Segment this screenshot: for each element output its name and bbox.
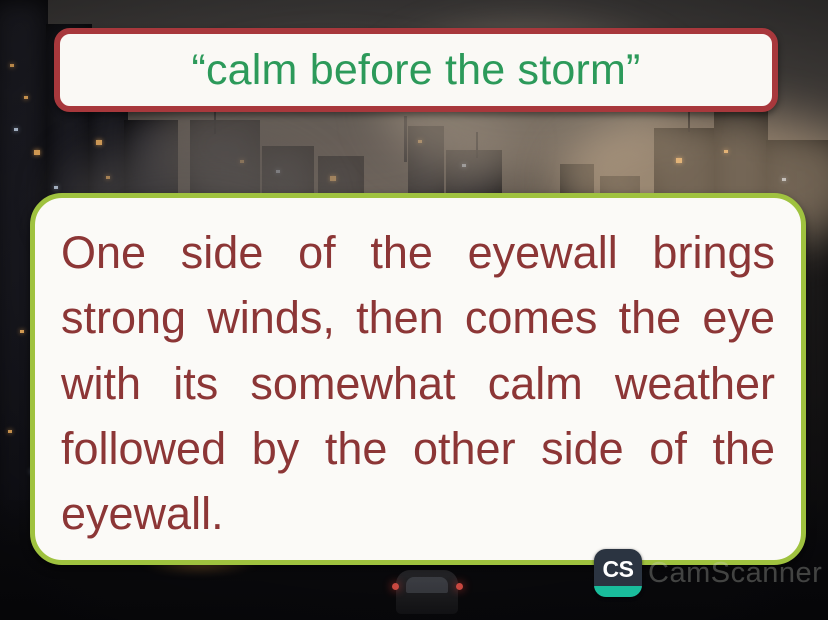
window-light [240, 160, 244, 163]
antenna-spire [476, 132, 478, 158]
window-light [8, 430, 12, 433]
window-light [14, 128, 18, 131]
window-light [34, 150, 40, 155]
window-light [462, 164, 466, 167]
window-light [106, 176, 110, 179]
window-light [724, 150, 728, 153]
window-light [330, 176, 336, 181]
title-card: “calm before the storm” [54, 28, 778, 112]
window-light [276, 170, 280, 173]
window-light [96, 140, 102, 145]
window-light [676, 158, 682, 163]
window-light [782, 178, 786, 181]
window-light [24, 96, 28, 99]
window-light [10, 64, 14, 67]
antenna-spire [404, 116, 407, 162]
title-text: “calm before the storm” [191, 49, 640, 92]
window-light [54, 186, 58, 189]
window-light [418, 140, 422, 143]
window-light [20, 330, 24, 333]
slide-canvas: “calm before the storm” One side of the … [0, 0, 828, 620]
body-paragraph: One side of the eyewall brings strong wi… [61, 220, 775, 612]
body-card: One side of the eyewall brings strong wi… [30, 193, 806, 565]
